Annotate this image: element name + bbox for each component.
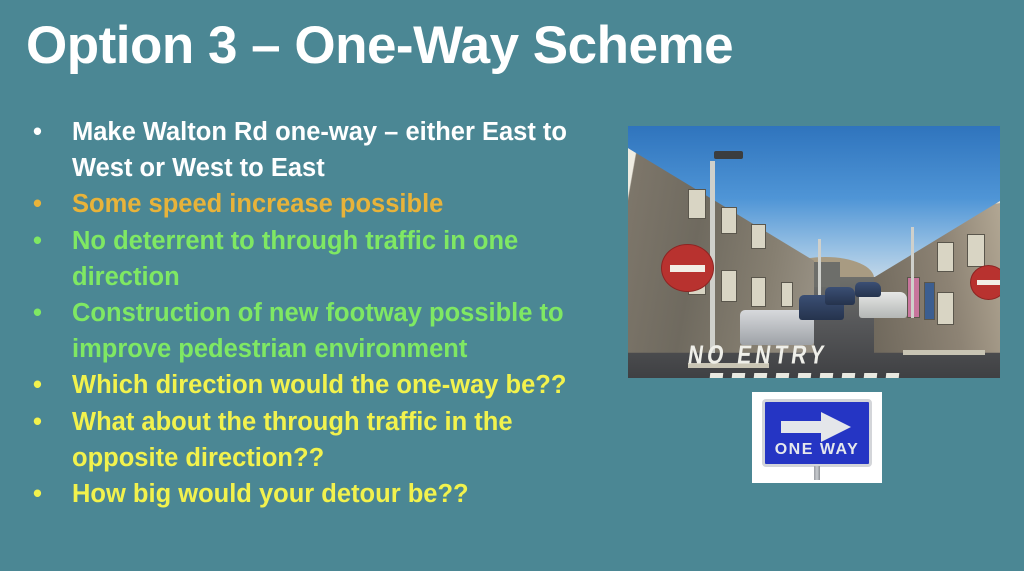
window — [721, 207, 737, 235]
window — [781, 282, 794, 307]
window — [967, 234, 986, 267]
list-item-label: Which direction would the one-way be?? — [72, 367, 618, 403]
bullet-list: • Make Walton Rd one-way – either East t… — [22, 114, 618, 512]
bullet-marker-icon: • — [22, 367, 72, 403]
page-title: Option 3 – One-Way Scheme — [26, 8, 926, 84]
list-item-label: What about the through traffic in the op… — [72, 404, 618, 476]
bullet-marker-icon: • — [22, 476, 72, 512]
window — [721, 270, 737, 303]
one-way-sign-image: ONE WAY — [752, 392, 882, 483]
bullet-marker-icon: • — [22, 114, 72, 150]
no-entry-sign-icon — [970, 265, 1000, 300]
list-item: • Construction of new footway possible t… — [22, 295, 618, 367]
list-item-label: How big would your detour be?? — [72, 476, 618, 512]
parked-car — [855, 282, 881, 297]
bullet-marker-icon: • — [22, 223, 72, 259]
window — [751, 224, 766, 249]
no-entry-sign-icon — [661, 244, 713, 292]
one-way-label: ONE WAY — [765, 441, 869, 459]
list-item: • No deterrent to through traffic in one… — [22, 223, 618, 295]
blue-door — [924, 282, 935, 320]
list-item: • Which direction would the one-way be?? — [22, 367, 618, 403]
list-item: • What about the through traffic in the … — [22, 404, 618, 476]
list-item-label: No deterrent to through traffic in one d… — [72, 223, 618, 295]
road-dashes — [710, 373, 899, 378]
bullet-marker-icon: • — [22, 404, 72, 440]
list-item-label: Make Walton Rd one-way – either East to … — [72, 114, 618, 186]
window — [937, 242, 954, 272]
road-marking-text: NO ENTRY — [685, 341, 829, 371]
sign-plate: ONE WAY — [762, 399, 872, 467]
list-item-label: Construction of new footway possible to … — [72, 295, 618, 367]
bullet-marker-icon: • — [22, 186, 72, 222]
window — [751, 277, 766, 307]
sign-post — [814, 466, 820, 480]
window — [937, 292, 954, 325]
arrow-shaft — [781, 421, 825, 433]
street-photo-image: NO ENTRY — [628, 126, 1000, 378]
list-item: • Some speed increase possible — [22, 186, 618, 222]
list-item-label: Some speed increase possible — [72, 186, 618, 222]
list-item: • How big would your detour be?? — [22, 476, 618, 512]
slide-canvas: Option 3 – One-Way Scheme • Make Walton … — [0, 0, 1024, 571]
kerb-right — [903, 350, 985, 355]
utility-pole — [911, 227, 915, 318]
bullet-marker-icon: • — [22, 295, 72, 331]
parked-car — [825, 287, 855, 305]
right-arrow-icon — [781, 412, 857, 442]
window — [688, 189, 707, 219]
lamp-head-icon — [714, 151, 744, 159]
list-item: • Make Walton Rd one-way – either East t… — [22, 114, 618, 186]
arrow-head — [821, 412, 851, 442]
